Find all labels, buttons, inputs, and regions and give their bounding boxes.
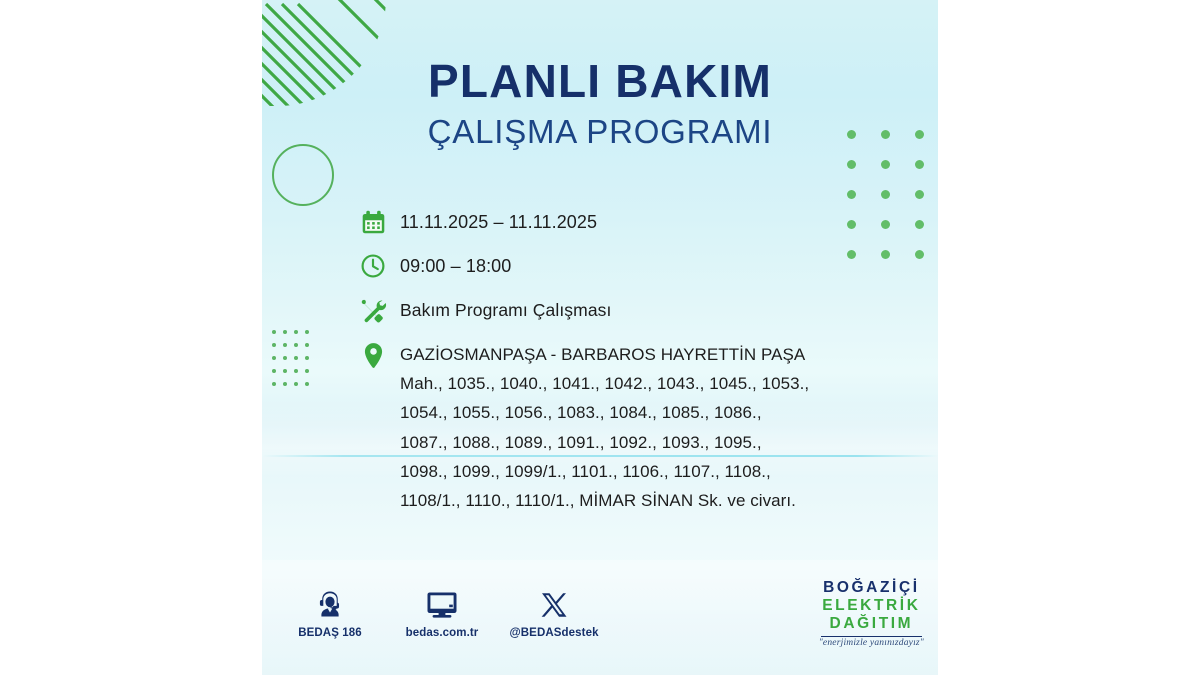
dot — [294, 330, 298, 334]
dot — [305, 356, 309, 360]
location-heading: GAZİOSMANPAŞA - BARBAROS HAYRETTİN PAŞA — [400, 340, 809, 369]
maintenance-notice-poster: PLANLI BAKIM ÇALIŞMA PROGRAMI — [262, 0, 938, 675]
detail-row-work-type: Bakım Programı Çalışması — [358, 294, 918, 325]
screenshot-root: PLANLI BAKIM ÇALIŞMA PROGRAMI — [0, 0, 1200, 675]
location-detail: Mah., 1035., 1040., 1041., 1042., 1043.,… — [400, 374, 809, 510]
contact-phone[interactable]: BEDAŞ 186 — [288, 583, 372, 639]
poster-footer: BEDAŞ 186 — [262, 579, 938, 667]
brand-line-2: ELEKTRİK — [819, 597, 924, 615]
dot — [272, 330, 276, 334]
bedas-logo: BOĞAZİÇİ ELEKTRİK DAĞITIM "enerjimizle y… — [819, 579, 924, 648]
support-agent-icon — [313, 583, 347, 621]
dot — [283, 330, 287, 334]
tools-icon — [358, 295, 388, 325]
clock-icon — [358, 251, 388, 281]
dot — [847, 190, 856, 199]
contact-x-label: @BEDASdestek — [509, 627, 598, 639]
dot — [305, 382, 309, 386]
dot — [283, 343, 287, 347]
contact-channels: BEDAŞ 186 — [288, 583, 596, 639]
dot — [881, 160, 890, 169]
dot-grid-left-decoration — [272, 330, 316, 395]
detail-row-date: 11.11.2025 – 11.11.2025 — [358, 206, 918, 237]
dot — [283, 356, 287, 360]
date-range-value: 11.11.2025 – 11.11.2025 — [400, 206, 597, 237]
dot — [272, 369, 276, 373]
contact-phone-label: BEDAŞ 186 — [298, 627, 362, 639]
location-pin-icon — [358, 340, 388, 370]
dot — [915, 190, 924, 199]
dot — [881, 190, 890, 199]
dot — [305, 343, 309, 347]
page-title: PLANLI BAKIM — [262, 58, 938, 105]
time-range-value: 09:00 – 18:00 — [400, 250, 511, 281]
brand-divider — [821, 636, 922, 637]
dot — [283, 382, 287, 386]
calendar-icon — [358, 207, 388, 237]
contact-website-label: bedas.com.tr — [406, 627, 479, 639]
dot — [294, 343, 298, 347]
notice-details: 11.11.2025 – 11.11.2025 09:00 – 18:00 — [358, 206, 918, 515]
poster-title-block: PLANLI BAKIM ÇALIŞMA PROGRAMI — [262, 58, 938, 152]
dot — [272, 356, 276, 360]
dot — [847, 160, 856, 169]
work-type-value: Bakım Programı Çalışması — [400, 294, 611, 324]
contact-website[interactable]: bedas.com.tr — [400, 583, 484, 639]
dot — [294, 369, 298, 373]
page-subtitle: ÇALIŞMA PROGRAMI — [262, 111, 938, 152]
x-twitter-icon — [539, 583, 569, 621]
dot — [294, 356, 298, 360]
location-text: GAZİOSMANPAŞA - BARBAROS HAYRETTİN PAŞAM… — [400, 339, 809, 515]
dot — [294, 382, 298, 386]
brand-line-1: BOĞAZİÇİ — [819, 579, 924, 597]
dot — [272, 382, 276, 386]
dot — [305, 330, 309, 334]
brand-tagline: "enerjimizle yanınızdayız" — [819, 639, 924, 649]
monitor-icon — [425, 583, 459, 621]
dot — [283, 369, 287, 373]
dot — [272, 343, 276, 347]
circle-outline-decoration — [272, 144, 334, 206]
contact-x[interactable]: @BEDASdestek — [512, 583, 596, 639]
dot — [305, 369, 309, 373]
brand-line-3: DAĞITIM — [819, 615, 924, 633]
detail-row-location: GAZİOSMANPAŞA - BARBAROS HAYRETTİN PAŞAM… — [358, 339, 918, 515]
dot — [915, 160, 924, 169]
detail-row-time: 09:00 – 18:00 — [358, 250, 918, 281]
